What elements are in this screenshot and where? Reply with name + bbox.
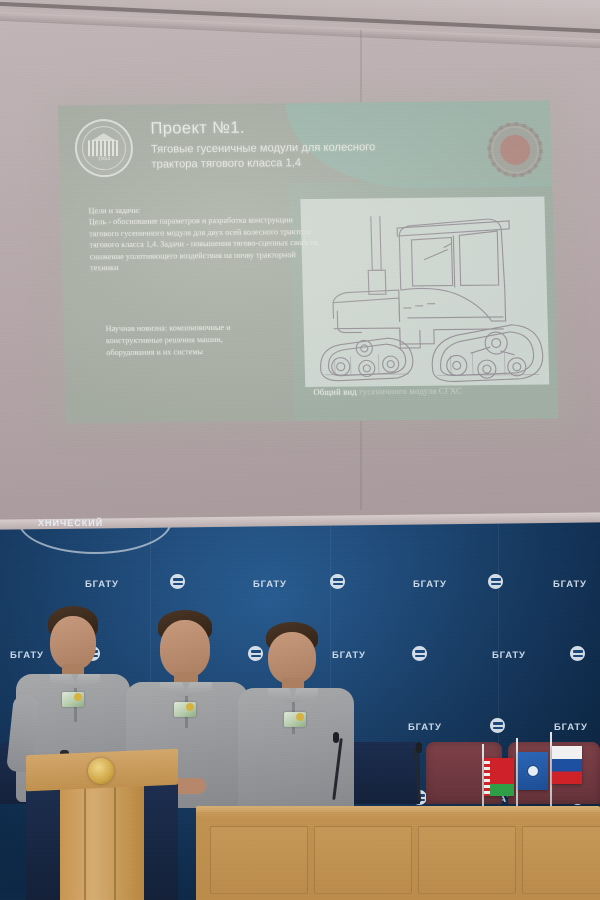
- projection-screen: 1954 Проект №1. Тяговые гусеничные модул…: [58, 100, 558, 423]
- slide-goals-block: Цели и задачи: Цель - обоснование параме…: [88, 203, 320, 274]
- gear-ring-icon: [486, 122, 543, 179]
- table-panel: [210, 826, 308, 894]
- backdrop-logo-icon: [412, 646, 427, 661]
- name-badge: [62, 692, 84, 707]
- backdrop-brand-mark: БГАТУ: [554, 722, 588, 733]
- podium-seam: [84, 786, 86, 900]
- slide-surface: 1954 Проект №1. Тяговые гусеничные модул…: [58, 100, 558, 423]
- flag-cloth-institution: [518, 752, 548, 790]
- table-panel: [314, 826, 412, 894]
- slide-novelty-heading: Научная новизна:: [106, 323, 168, 333]
- podium-seam: [114, 786, 116, 900]
- name-badge: [174, 702, 196, 717]
- podium-shadow-right: [142, 778, 178, 900]
- figure-caption-main: Общий вид: [313, 386, 357, 396]
- backdrop-logo-icon: [330, 574, 345, 589]
- table-panel: [418, 826, 516, 894]
- backdrop-brand-mark: БГАТУ: [413, 579, 447, 590]
- flag-cloth-russia: [552, 746, 582, 784]
- backdrop-logo-icon: [170, 574, 185, 589]
- presidium-table: [196, 812, 600, 900]
- backdrop-brand-mark: БГАТУ: [253, 579, 287, 590]
- tractor-drawing-svg: [300, 197, 549, 387]
- partner-emblem-icon: [487, 123, 542, 178]
- seal-building-shape: [88, 140, 120, 156]
- flag-cloth-belarus: [484, 758, 514, 796]
- backdrop-logo-icon: [490, 718, 505, 733]
- name-badge: [284, 712, 306, 727]
- flag-ornament: [484, 758, 490, 796]
- speaker-podium: [26, 752, 178, 900]
- university-seal-icon: 1954: [74, 119, 134, 178]
- slide-novelty-block: Научная новизна: компоновочные и констру…: [106, 321, 267, 359]
- microphone-head-icon: [333, 732, 339, 743]
- backdrop-brand-mark: БГАТУ: [492, 650, 526, 661]
- podium-shadow-left: [26, 778, 62, 900]
- head: [160, 620, 210, 678]
- microphone-head-icon: [416, 742, 422, 753]
- slide-title: Проект №1.: [150, 119, 245, 139]
- slide-goals-text: Цель - обоснование параметров и разработ…: [89, 216, 320, 273]
- head: [50, 616, 96, 670]
- head: [268, 632, 316, 684]
- backdrop-logo-icon: [488, 574, 503, 589]
- seal-year-label: 1954: [77, 156, 131, 163]
- presenter-right: [238, 620, 364, 810]
- table-panel: [522, 826, 600, 894]
- backdrop-brand-mark: БГАТУ: [553, 579, 587, 590]
- backdrop-arc-text: ХНИЧЕСКИЙ: [38, 518, 103, 528]
- slide-figure-tractor: [300, 197, 549, 387]
- backdrop-brand-mark: БГАТУ: [408, 722, 442, 733]
- backdrop-logo-icon: [570, 646, 585, 661]
- torso-polo-shirt: [238, 688, 354, 812]
- backdrop-brand-mark: БГАТУ: [85, 579, 119, 590]
- podium-column: [60, 786, 144, 900]
- slide-subtitle: Тяговые гусеничные модули для колесного …: [151, 140, 382, 172]
- presentation-photo-scene: 1954 Проект №1. Тяговые гусеничные модул…: [0, 0, 600, 900]
- national-emblem-icon: [88, 758, 114, 784]
- figure-caption-rest: гусеничного модуля СГХС: [357, 385, 462, 396]
